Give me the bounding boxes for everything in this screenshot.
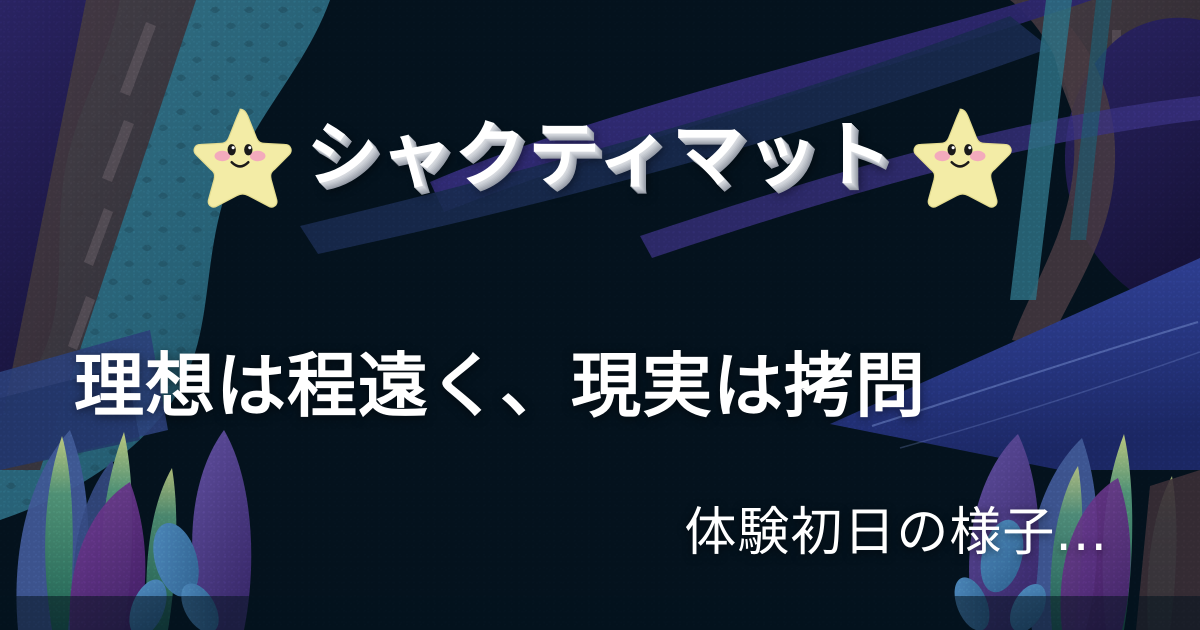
star-icon	[908, 104, 1012, 208]
star-eye-right	[244, 144, 252, 155]
star-mascot-left	[188, 104, 292, 208]
star-cheek-right	[250, 151, 266, 161]
page-title: シャクティマット	[306, 117, 894, 195]
star-mascot-right	[908, 104, 1012, 208]
star-icon	[188, 104, 292, 208]
subline-text: 体験初日の様子...	[684, 490, 1108, 565]
star-cheek-left	[215, 151, 231, 161]
star-eye-left	[947, 144, 955, 155]
star-eye-left	[228, 144, 236, 155]
star-eye-right	[964, 144, 972, 155]
thumbnail-canvas: シャクティマット 理想は程遠く、現実は拷問 体験初日の様子...	[0, 0, 1200, 630]
title-row: シャクティマット	[0, 104, 1200, 208]
headline-text: 理想は程遠く、現実は拷問	[74, 330, 926, 431]
star-cheek-left	[934, 151, 950, 161]
star-cheek-right	[970, 151, 986, 161]
text-content: シャクティマット 理想は程遠く、現実は拷問 体験初日の様子...	[0, 0, 1200, 630]
